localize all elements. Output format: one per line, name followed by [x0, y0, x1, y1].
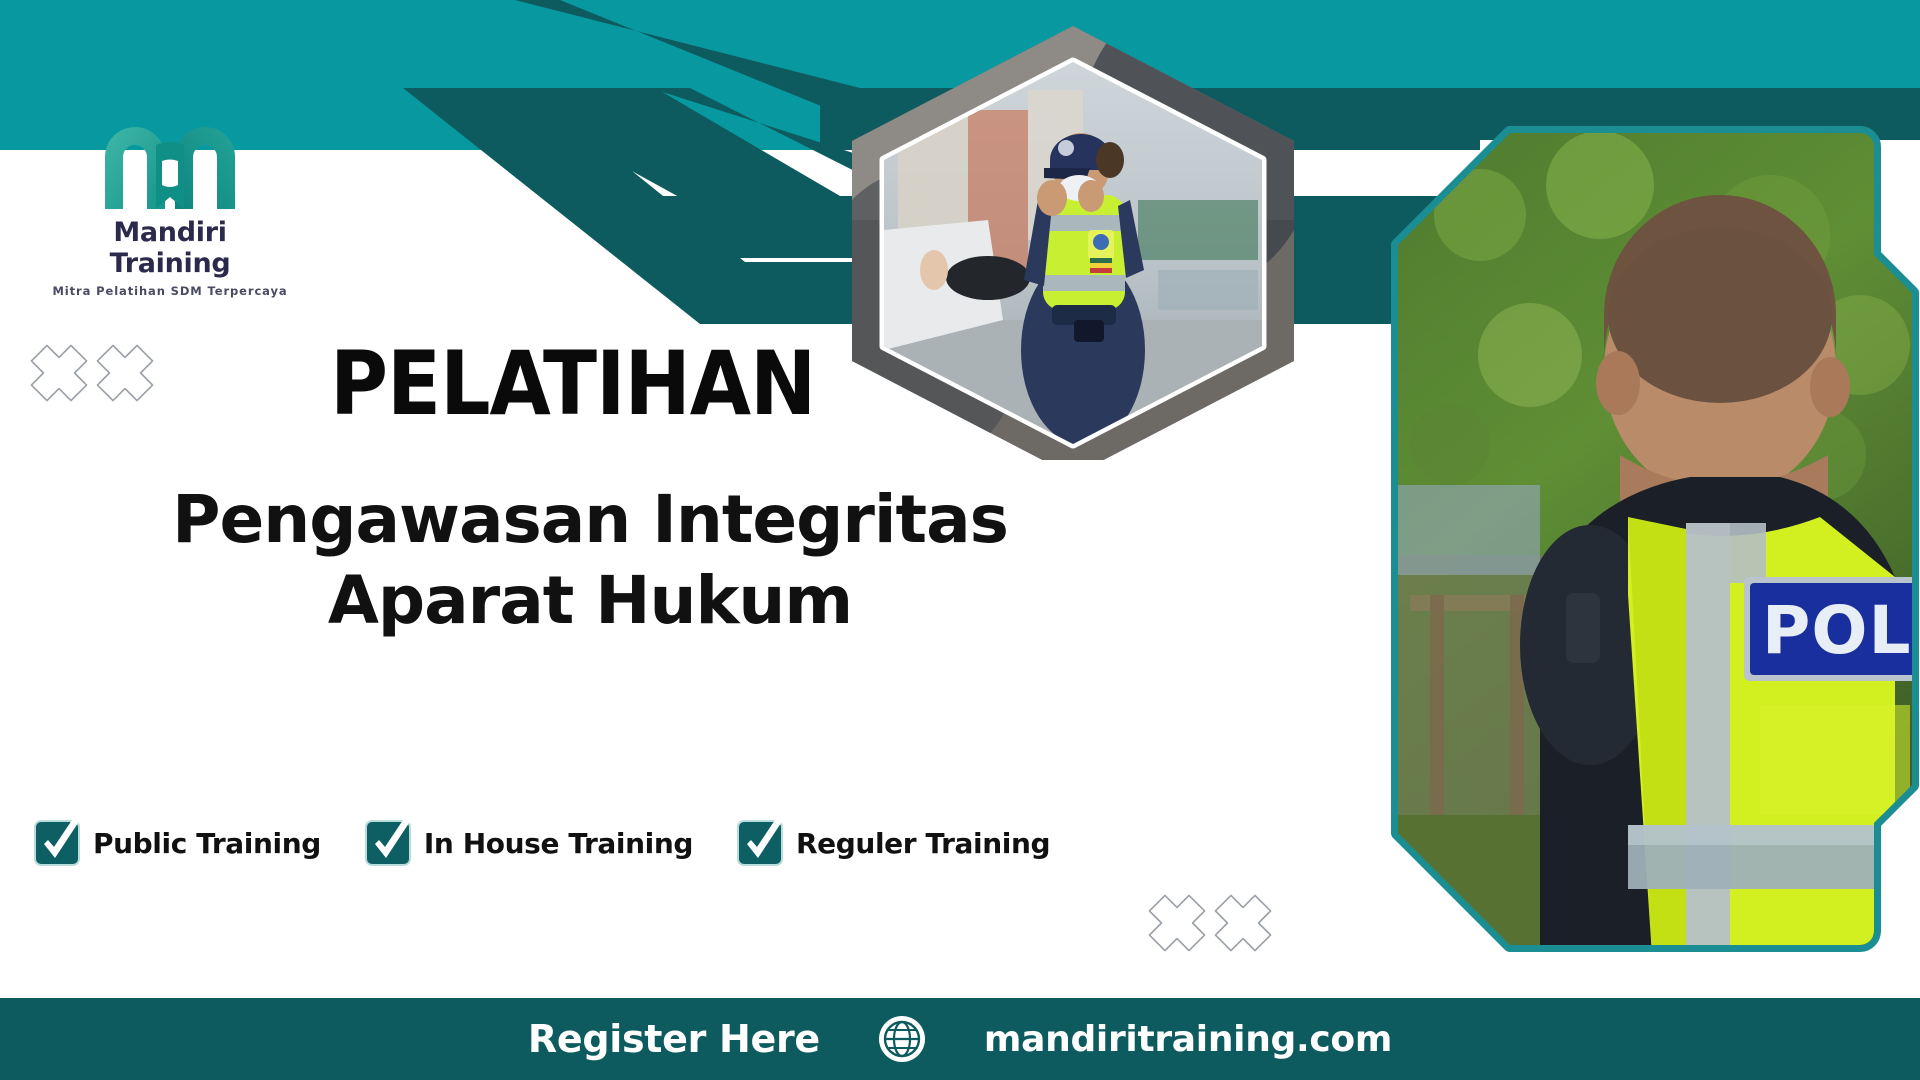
cross-decoration-bottom [1146, 892, 1274, 954]
title-line-2: Aparat Hukum [170, 561, 1010, 642]
training-option-label: Public Training [93, 827, 321, 860]
training-options-list: Public Training In House Training Regule… [34, 820, 1050, 866]
page-title-kicker: PELATIHAN [330, 340, 815, 428]
training-option-reguler[interactable]: Reguler Training [737, 820, 1050, 866]
brand-tagline: Mitra Pelatihan SDM Terpercaya [50, 284, 290, 298]
website-url[interactable]: mandiritraining.com [984, 1019, 1392, 1060]
footer-bar: Register Here mandiritraining.com [0, 998, 1920, 1080]
cross-decoration-top-left [28, 342, 156, 404]
training-option-label: In House Training [424, 827, 693, 860]
checkbox-reguler-training[interactable] [737, 820, 783, 866]
checkbox-public-training[interactable] [34, 820, 80, 866]
cross-outline-icon [1212, 892, 1274, 954]
checkbox-in-house-training[interactable] [365, 820, 411, 866]
cross-outline-icon [28, 342, 90, 404]
globe-icon [878, 1015, 926, 1063]
register-here-label: Register Here [528, 1017, 820, 1061]
mandiri-m-logo-icon [95, 105, 245, 215]
brand-logo[interactable]: Mandiri Training Mitra Pelatihan SDM Ter… [50, 105, 290, 298]
traffic-police-officer-photo [838, 20, 1308, 465]
brand-name: Mandiri Training [50, 217, 290, 279]
training-option-label: Reguler Training [796, 827, 1050, 860]
training-option-public[interactable]: Public Training [34, 820, 321, 866]
cross-outline-icon [1146, 892, 1208, 954]
checkmark-icon [34, 816, 86, 872]
svg-text:POLICE: POLICE [1762, 592, 1920, 669]
police-officer-back-photo: POLICE [1390, 125, 1920, 960]
checkmark-icon [737, 816, 789, 872]
title-line-1: Pengawasan Integritas [170, 480, 1010, 561]
training-option-in-house[interactable]: In House Training [365, 820, 693, 866]
cross-outline-icon [94, 342, 156, 404]
page-title: Pengawasan Integritas Aparat Hukum [170, 480, 1010, 641]
promotional-banner: Mandiri Training Mitra Pelatihan SDM Ter… [0, 0, 1920, 1080]
checkmark-icon [365, 816, 417, 872]
